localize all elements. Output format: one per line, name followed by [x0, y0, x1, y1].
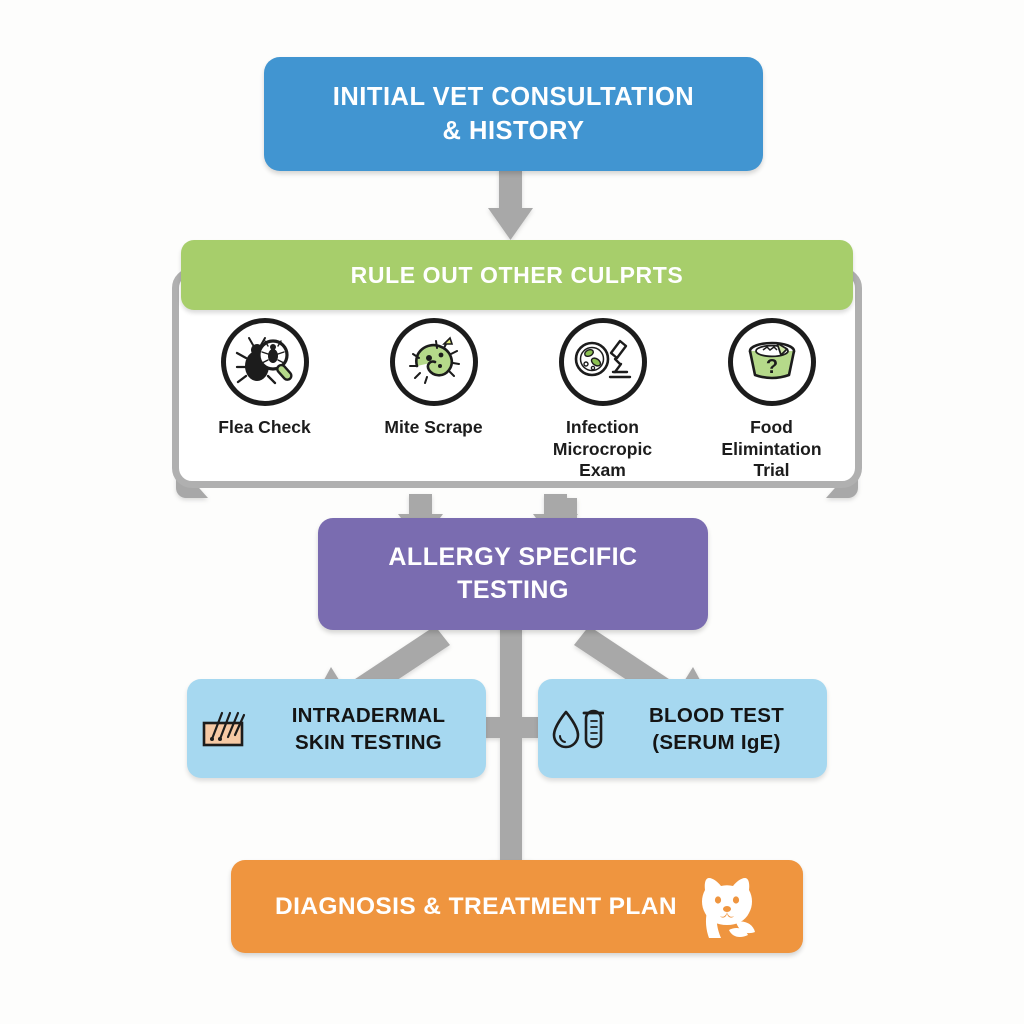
node-allergy-specific-testing[interactable]: ALLERGY SPECIFIC TESTING	[318, 518, 708, 630]
node-blood-test-serum-ige[interactable]: BLOOD TEST (SERUM IgE)	[538, 679, 827, 778]
skin-needles-icon	[199, 707, 249, 751]
node-initial-label-line2: & HISTORY	[443, 117, 585, 145]
node-bloodtest-label: BLOOD TEST (SERUM IgE)	[618, 702, 815, 756]
droplet-test-tube-icon	[550, 706, 604, 752]
rule-out-item-label: Mite Scrape	[384, 417, 482, 439]
dog-leaf-icon	[695, 872, 759, 942]
rule-out-icon-row: Flea Check Mite Scrape	[180, 318, 856, 483]
rule-out-item-label: Infection Microcropic Exam	[553, 417, 652, 482]
rule-out-item-food-trial[interactable]: ? Food Elimintation Trial	[697, 318, 847, 482]
label-line1: INTRADERMAL	[292, 704, 446, 727]
rule-out-item-label: Food Elimintation Trial	[721, 417, 821, 482]
rule-out-item-flea-check[interactable]: Flea Check	[190, 318, 340, 439]
label-line1: Flea Check	[218, 417, 310, 437]
label-line1: Mite Scrape	[384, 417, 482, 437]
header-rule-out-other-culprits[interactable]: RULE OUT OTHER CULPRTS	[181, 240, 853, 310]
arrow-initial-to-ruleout	[488, 168, 533, 240]
node-diagnosis-label: DIAGNOSIS & TREATMENT PLAN	[275, 893, 677, 921]
label-line3: Exam	[579, 460, 626, 480]
node-allergy-label-line1: ALLERGY SPECIFIC	[388, 543, 637, 571]
arrow-allergy-to-diagnosis	[483, 626, 539, 893]
node-initial-vet-consultation[interactable]: INITIAL VET CONSULTATION & HISTORY	[264, 57, 763, 171]
label-line1: Food	[750, 417, 793, 437]
node-intradermal-skin-testing[interactable]: INTRADERMAL SKIN TESTING	[187, 679, 486, 778]
rule-out-item-label: Flea Check	[218, 417, 310, 439]
rule-out-item-infection-exam[interactable]: Infection Microcropic Exam	[528, 318, 678, 482]
mite-microbe-icon	[390, 318, 478, 406]
flea-magnifier-icon	[221, 318, 309, 406]
node-initial-label-line1: INITIAL VET CONSULTATION	[333, 83, 694, 111]
label-line1: Infection	[566, 417, 639, 437]
label-line2: (SERUM IgE)	[652, 731, 781, 754]
node-intradermal-label: INTRADERMAL SKIN TESTING	[263, 702, 474, 756]
rule-out-item-mite-scrape[interactable]: Mite Scrape	[359, 318, 509, 439]
node-allergy-label-line2: TESTING	[457, 576, 569, 604]
label-line2: Microcropic	[553, 439, 652, 459]
label-line1: BLOOD TEST	[649, 704, 784, 727]
label-line3: Trial	[753, 460, 789, 480]
label-line2: SKIN TESTING	[295, 731, 442, 754]
label-line2: Elimintation	[721, 439, 821, 459]
food-bowl-question-icon: ?	[728, 318, 816, 406]
svg-text:?: ?	[765, 356, 777, 378]
node-diagnosis-treatment-plan[interactable]: DIAGNOSIS & TREATMENT PLAN	[231, 860, 803, 953]
petri-dish-microscope-icon	[559, 318, 647, 406]
flowchart-canvas: INITIAL VET CONSULTATION & HISTORY RULE …	[0, 0, 1024, 1024]
header-rule-out-label: RULE OUT OTHER CULPRTS	[351, 262, 684, 289]
